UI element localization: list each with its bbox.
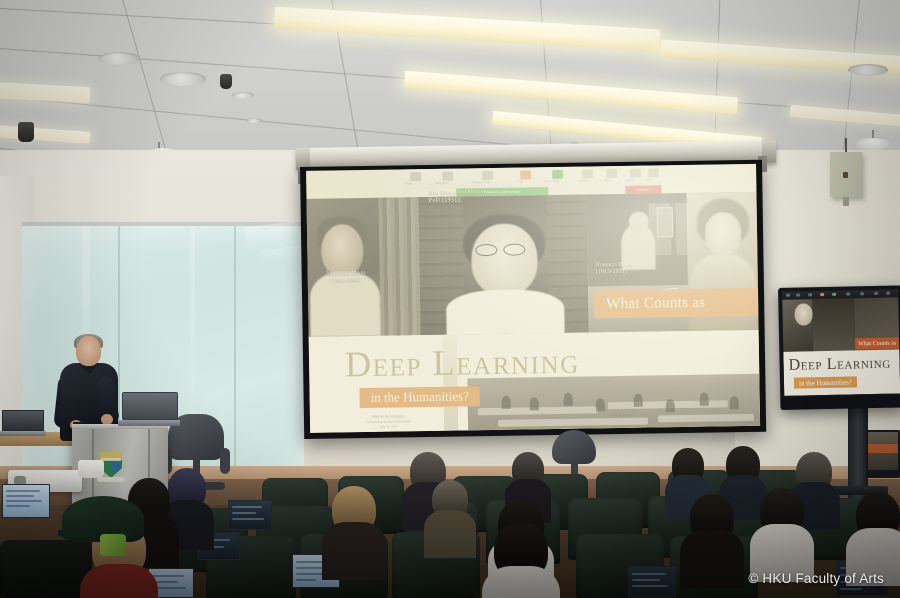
projected-slide: Share Send Notes Presenter Tools Play Re… — [306, 164, 760, 433]
secondary-monitor — [866, 430, 900, 478]
ribbon-item-transitions[interactable]: Transitions — [578, 179, 591, 182]
audience-member — [856, 492, 900, 540]
side-laptop — [0, 410, 46, 436]
wall-speaker — [830, 152, 862, 197]
ribbon-item-send-notes[interactable]: Send Notes — [435, 182, 449, 185]
figure-dates: (1911-1985) — [331, 277, 362, 283]
audience-member — [432, 480, 468, 520]
caption-kim-hwallan: Kim Hwallan (Helen) PhD (1931) — [428, 188, 486, 204]
audience-member — [672, 448, 704, 484]
ribbon-item-play[interactable]: Play — [518, 180, 523, 183]
photo-josephine-miles — [307, 197, 421, 337]
caption-roberto-busa: Roberto Busa (1913-2011) — [596, 262, 632, 277]
audience-laptop — [628, 566, 676, 598]
ceiling-vent — [98, 52, 140, 65]
ceiling-vent — [232, 92, 254, 99]
audience-member — [494, 522, 548, 580]
audience-laptop — [228, 500, 272, 530]
speaker-bracket — [843, 197, 849, 206]
figure-dates: PhD (1931) — [428, 196, 459, 203]
lecture-hall-photo: Share Send Notes Presenter Tools Play Re… — [0, 0, 900, 598]
caption-josephine-miles: Josephine Miles (1911-1985) — [326, 270, 366, 285]
monitor-title: Deep Learning — [788, 355, 891, 375]
ribbon-item-review[interactable]: Review — [626, 179, 635, 182]
audience-laptop — [2, 484, 50, 518]
presentation-date: May 30, 2019 — [366, 425, 411, 430]
audience-member — [512, 452, 544, 488]
audience-member — [168, 468, 206, 510]
slide-kicker: What Counts as — [594, 288, 758, 319]
slide-title-block: Deep Learning in the Humanities? Wayne d… — [309, 330, 760, 433]
figure-name: Josephine Miles — [326, 270, 366, 277]
projection-screen: Share Send Notes Presenter Tools Play Re… — [300, 160, 766, 439]
monitor-kicker: What Counts as — [855, 337, 899, 349]
ceiling-vent — [160, 72, 206, 86]
water-bottle — [100, 534, 126, 556]
caption-portrait: Ada Lovelace — [610, 412, 635, 424]
audience-member — [690, 494, 734, 542]
ribbon-item-view[interactable]: View — [646, 178, 652, 181]
audience-member — [796, 452, 832, 492]
ribbon-item-share[interactable]: Share — [405, 182, 412, 185]
confidence-monitor: What Counts as Deep Learning in the Huma… — [778, 285, 900, 410]
slide-title: Deep Learning — [345, 343, 580, 383]
figure-dates: (1913-2011) — [596, 269, 628, 275]
ribbon-item-presenter-tools[interactable]: Presenter Tools — [472, 181, 490, 184]
slide-subtitle: in the Humanities? — [359, 386, 480, 408]
slide-attribution: Wayne de Fremery Sookmyung Women's Unive… — [366, 413, 411, 430]
ribbon-item-draw[interactable]: Draw — [604, 179, 610, 182]
ceiling-camera — [18, 122, 34, 142]
auditorium-seat — [0, 540, 92, 598]
monitor-subtitle: in the Humanities? — [794, 376, 857, 388]
figure-name: Kim Hwallan (Helen) — [428, 188, 485, 196]
ceiling-camera — [220, 74, 232, 89]
watermark: © HKU Faculty of Arts — [748, 571, 884, 586]
audience-member — [726, 446, 760, 484]
ribbon-item-record[interactable]: Record Slide — [544, 180, 559, 183]
figure-name: Roberto Busa — [596, 262, 632, 269]
audience-member — [332, 486, 376, 534]
ceiling-vent — [848, 64, 888, 76]
photo-kim-hwallan — [418, 195, 588, 336]
ceiling-vent — [246, 118, 262, 123]
audience-member — [760, 488, 804, 536]
cups — [78, 460, 104, 478]
presenter-laptop — [118, 392, 180, 428]
